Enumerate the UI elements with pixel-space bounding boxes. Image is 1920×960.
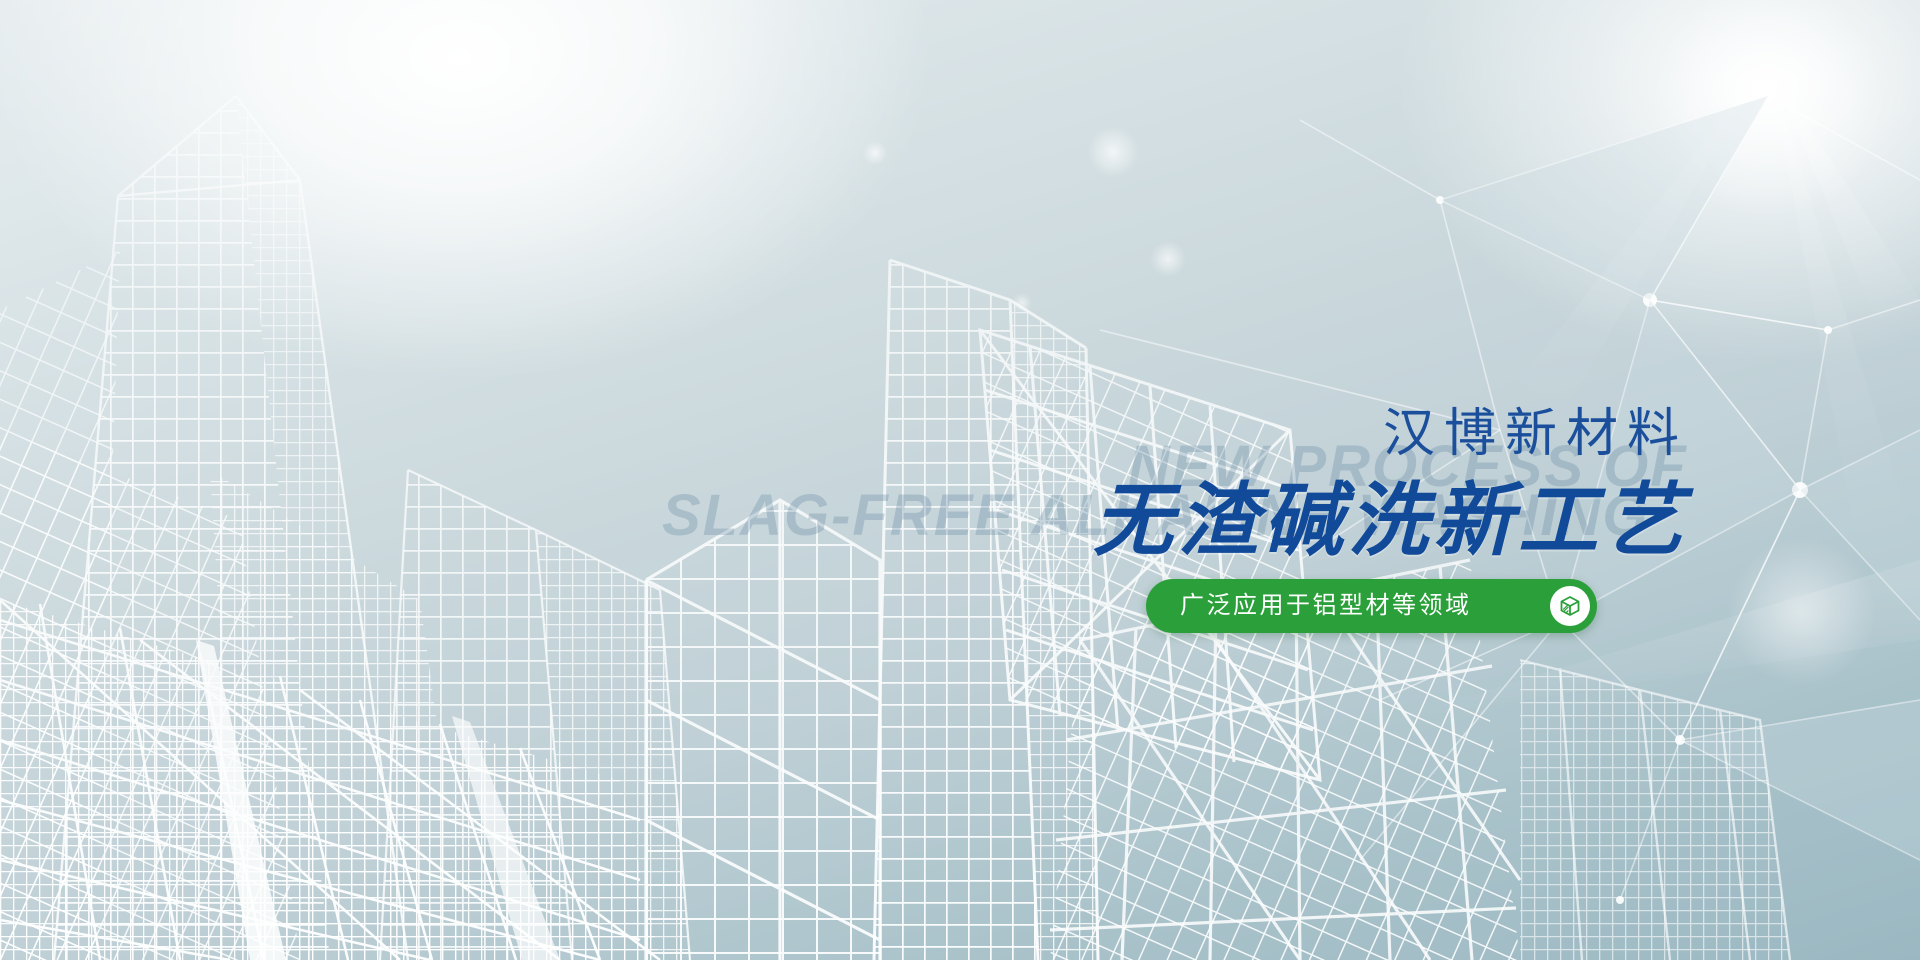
cube-building-icon	[1550, 586, 1590, 626]
tower-right-edge	[1520, 660, 1790, 960]
cta-pill[interactable]: 广泛应用于铝型材等领域	[1146, 579, 1597, 633]
cta-pill-label: 广泛应用于铝型材等领域	[1180, 594, 1550, 618]
tower-center-gabled	[646, 500, 880, 960]
hero-banner: NEW PROCESS OF SLAG-FREE ALKALINE WASHIN…	[0, 0, 1920, 960]
wireframe-city-layer	[0, 0, 1920, 960]
